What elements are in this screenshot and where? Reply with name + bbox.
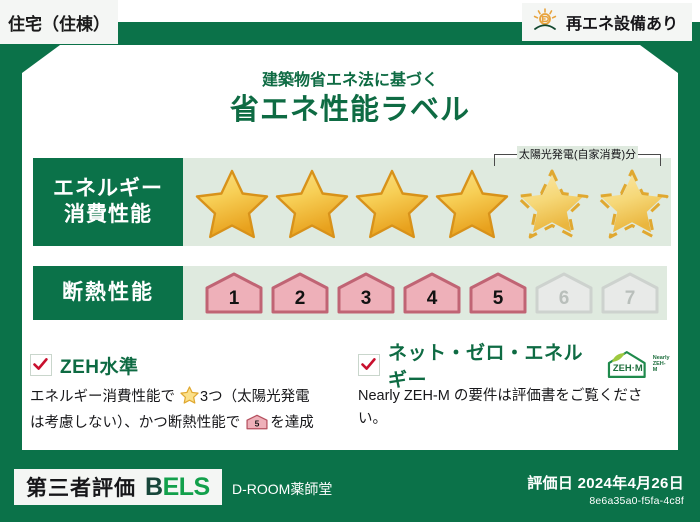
zeh-body-part2: は考慮しない）、かつ断熱性能で [30,415,240,431]
project-name: D-ROOM薬師堂 [232,479,332,499]
inline-star-icon [176,392,199,408]
star-filled-1 [193,165,271,239]
bels-wordmark: BELS [145,473,210,502]
net-zero-body: Nearly ZEH-M の要件は評価書をご覧ください。 [358,385,670,432]
label-footer: 第三者評価 BELS D-ROOM薬師堂 評価日 2024年4月26日 8e6a… [0,460,700,522]
check-icon [361,357,376,372]
insulation-level-5: 5 [467,271,529,315]
star-filled-4 [433,165,511,239]
footer-meta: 評価日 2024年4月26日 8e6a35a0-f5fa-4c8f [527,472,684,507]
zeh-standard-heading: ZEH水準 [60,352,139,379]
zeh-standard-heading-row: ZEH水準 [30,352,350,378]
insulation-level-2: 2 [269,271,331,315]
label-title: 省エネ性能ラベル [0,86,700,128]
zeh-body-part1: エネルギー消費性能で [30,389,175,405]
zeh-body-part3: を達成 [270,415,314,431]
bels-letter-b: B [145,473,163,501]
insulation-level-1: 1 [203,271,265,315]
svg-text:5: 5 [255,419,260,429]
insulation-level-3: 3 [335,271,397,315]
bels-certification-plate: 第三者評価 BELS [14,469,222,505]
insulation-performance-label-box: 断熱性能 [33,266,183,320]
star-filled-3 [353,165,431,239]
insulation-level-6: 6 [533,271,595,315]
insulation-level-number: 7 [625,288,636,315]
zeh-m-sub-line2: ZEH-M [653,362,670,374]
solar-annotation-text: 太陽光発電(自家消費)分 [517,146,638,162]
star-solar-1 [513,165,591,239]
net-zero-checkbox [358,354,380,376]
zeh-standard-checkbox [30,354,52,376]
check-icon [33,357,48,372]
document-id: 8e6a35a0-f5fa-4c8f [527,495,684,507]
zeh-body-star-count: 3つ（太陽光発電 [200,389,310,405]
energy-star-track: 太陽光発電(自家消費)分 [183,158,671,246]
zeh-m-logo-text: ZEH·M [613,362,643,373]
house-type-tag: 住宅（住棟） [0,0,118,44]
zeh-standard-block: ZEH水準 エネルギー消費性能で 3つ（太陽光発電 は考慮しない）、かつ断熱性能… [30,352,350,440]
evaluation-date: 評価日 2024年4月26日 [527,472,684,493]
net-zero-heading: ネット・ゼロ・エネルギー [388,338,591,392]
third-party-evaluation-label: 第三者評価 [26,472,136,502]
energy-label-line2: 消費性能 [64,202,152,228]
evaluation-date-label: 評価日 [527,475,573,492]
energy-performance-label-box: エネルギー 消費性能 [33,158,183,246]
inline-house-icon: 5 [242,419,268,435]
net-zero-energy-block: ネット・ゼロ・エネルギー ZEH·M Nearly ZEH-M Nearly Z… [358,352,670,432]
bels-letters-els: ELS [163,473,210,501]
insulation-level-number: 3 [361,288,372,315]
renewable-energy-badge: 再エネ設備あり [522,3,692,41]
net-zero-heading-row: ネット・ゼロ・エネルギー ZEH·M Nearly ZEH-M [358,352,670,378]
energy-label-line1: エネルギー [53,176,163,202]
insulation-level-track: 1234567 [183,266,667,320]
insulation-label-line1: 断熱性能 [62,280,154,306]
energy-performance-label: 住宅（住棟） 再エネ設備あり 建築物省エネ法に基づく 省エネ性能ラベル [0,0,700,522]
energy-performance-row: エネルギー 消費性能 [33,158,667,246]
insulation-performance-row: 断熱性能 1234567 [33,266,667,320]
insulation-level-number: 1 [229,288,240,315]
insulation-level-number: 6 [559,288,570,315]
star-rating-group [189,165,671,239]
insulation-level-number: 4 [427,288,438,315]
renewable-badge-label: 再エネ設備あり [566,10,678,34]
insulation-level-number: 2 [295,288,306,315]
zeh-standard-body: エネルギー消費性能で 3つ（太陽光発電 は考慮しない）、かつ断熱性能で 5 を達… [30,385,350,440]
star-solar-2 [593,165,671,239]
evaluation-date-value: 2024年4月26日 [578,475,684,492]
star-filled-2 [273,165,351,239]
zeh-m-logo: ZEH·M Nearly ZEH-M [605,350,670,380]
insulation-level-number: 5 [493,288,504,315]
solar-generation-annotation: 太陽光発電(自家消費)分 [490,145,665,163]
sun-solar-icon [532,8,558,37]
insulation-level-4: 4 [401,271,463,315]
insulation-level-7: 7 [599,271,661,315]
